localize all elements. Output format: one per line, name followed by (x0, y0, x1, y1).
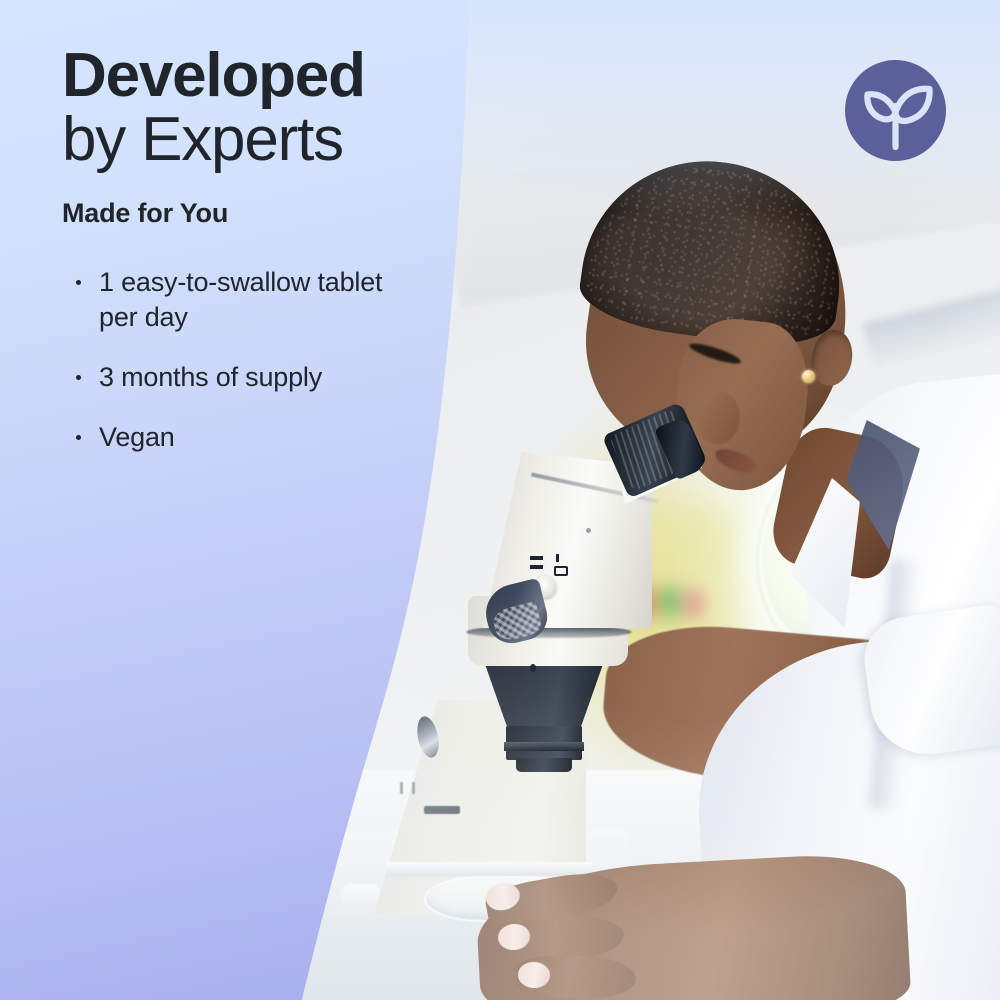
list-item: Vegan (62, 420, 409, 455)
benefits-list: 1 easy-to-swallow tablet per day 3 month… (62, 265, 482, 455)
microscope-stage-slot (424, 806, 460, 814)
microscope-objective-tip (516, 758, 572, 772)
microscope-screw (586, 528, 591, 533)
headline-line-1: Developed (62, 44, 482, 108)
microscope-label-icon (530, 556, 543, 560)
bullet-dot-icon (76, 280, 81, 285)
list-item: 1 easy-to-swallow tablet per day (62, 265, 409, 335)
bullet-dot-icon (76, 435, 81, 440)
sprout-leaf-circle-icon (845, 60, 946, 161)
text-content: Developed by Experts Made for You 1 easy… (62, 44, 482, 480)
blurred-reagent-pink (684, 590, 702, 618)
headline-line-2: by Experts (62, 108, 482, 172)
microscope-turret-marker (530, 664, 536, 672)
bullet-dot-icon (76, 375, 81, 380)
microscope-label-icon (554, 566, 568, 576)
list-item-label: Vegan (99, 422, 175, 452)
subheading: Made for You (62, 198, 482, 229)
list-item-label: 1 easy-to-swallow tablet per day (99, 267, 382, 332)
brand-logo (845, 60, 946, 161)
microscope-label-icon (556, 554, 559, 562)
blurred-reagent-green (660, 586, 680, 618)
microscope-base-tick (412, 782, 415, 794)
list-item: 3 months of supply (62, 360, 409, 395)
page-title: Developed by Experts (62, 44, 482, 172)
earring (802, 370, 815, 383)
microscope-base-lip (386, 862, 592, 876)
microscope-objective-ring (504, 742, 584, 751)
microscope-label-icon (530, 565, 543, 569)
lab-coat-seam-upper (863, 278, 1000, 374)
list-item-label: 3 months of supply (99, 362, 322, 392)
product-feature-card: Developed by Experts Made for You 1 easy… (0, 0, 1000, 1000)
sample-cap-large (342, 884, 380, 910)
microscope-base-tick (400, 782, 403, 794)
